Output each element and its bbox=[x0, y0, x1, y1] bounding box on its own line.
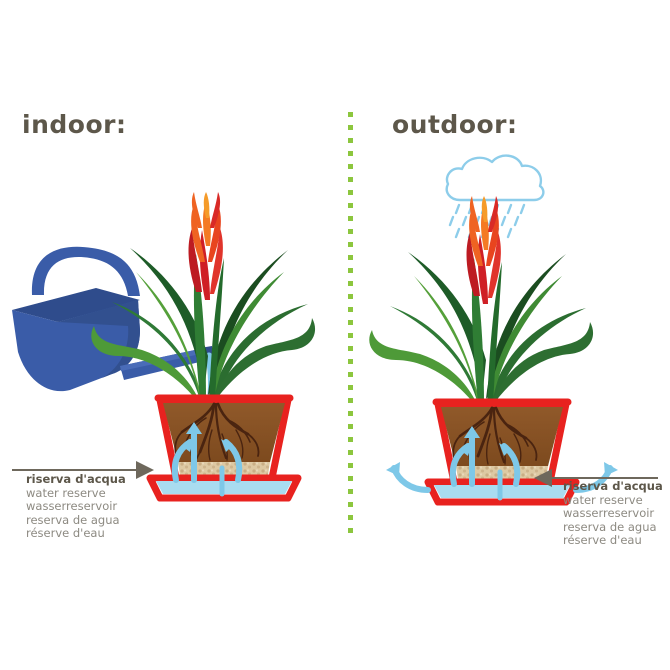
rain-cloud-icon bbox=[447, 156, 544, 237]
panel-divider-dotted bbox=[348, 112, 353, 557]
panel-heading-outdoor: outdoor: bbox=[392, 110, 518, 139]
label-line-it-outdoor: riserva d'acqua bbox=[563, 480, 663, 494]
bromeliad-plant-icon bbox=[91, 192, 315, 402]
flower-bracts bbox=[189, 192, 223, 300]
label-line-fr: réserve d'eau bbox=[26, 527, 126, 541]
label-line-de: wasserreservoir bbox=[26, 500, 126, 514]
water-flow-arrow-icon bbox=[175, 430, 239, 480]
label-line-en: water reserve bbox=[26, 487, 126, 501]
raindrops bbox=[450, 205, 524, 237]
label-line-it: riserva d'acqua bbox=[26, 473, 126, 487]
label-line-de-outdoor: wasserreservoir bbox=[563, 507, 663, 521]
label-line-es: reserva de agua bbox=[26, 514, 126, 528]
label-line-en-outdoor: water reserve bbox=[563, 494, 663, 508]
flower-bracts-outdoor bbox=[467, 196, 501, 304]
watering-can-icon bbox=[12, 247, 214, 391]
water-reserve-label-outdoor: riserva d'acqua water reserve wasserrese… bbox=[563, 480, 663, 548]
bromeliad-plant-icon-outdoor bbox=[369, 196, 593, 406]
infographic-canvas: indoor: outdoor: bbox=[0, 0, 670, 670]
roots-outdoor bbox=[453, 408, 536, 464]
overflow-arrow-left bbox=[394, 468, 428, 490]
water-reserve-label-indoor: riserva d'acqua water reserve wasserrese… bbox=[26, 473, 126, 541]
roots bbox=[175, 404, 258, 460]
water-stream bbox=[200, 356, 212, 430]
plant-pot-cutaway-icon bbox=[150, 398, 298, 498]
label-line-fr-outdoor: réserve d'eau bbox=[563, 534, 663, 548]
label-line-es-outdoor: reserva de agua bbox=[563, 521, 663, 535]
water-flow-arrow-icon-outdoor bbox=[453, 434, 517, 484]
panel-heading-indoor: indoor: bbox=[22, 110, 126, 139]
illustration-layer bbox=[0, 0, 670, 670]
